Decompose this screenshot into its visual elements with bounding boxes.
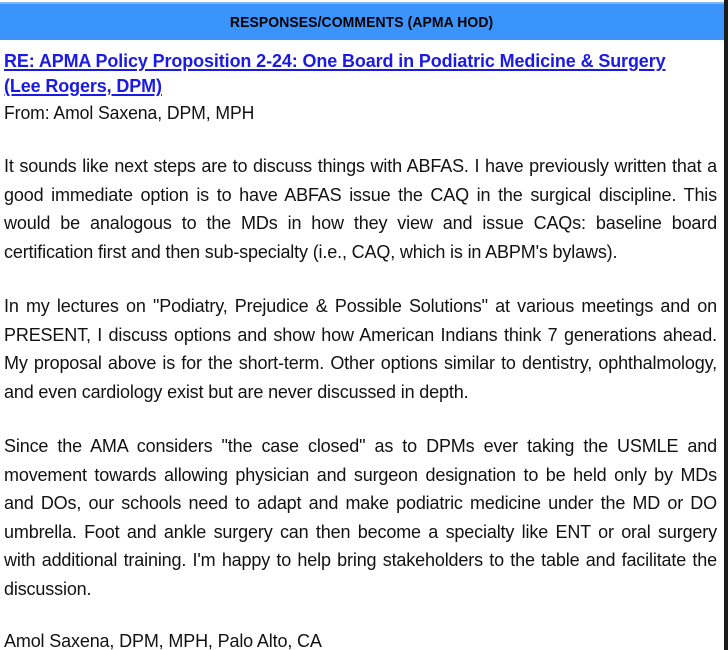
subject-link[interactable]: RE: APMA Policy Proposition 2-24: One Bo… [4, 48, 696, 98]
page-title: RESPONSES/COMMENTS (APMA HOD) [230, 14, 493, 31]
paragraph-spacer [4, 126, 717, 152]
paragraph-spacer [4, 406, 717, 432]
paragraph-spacer [4, 603, 717, 627]
message-content: RE: APMA Policy Proposition 2-24: One Bo… [0, 40, 722, 650]
message-signature: Amol Saxena, DPM, MPH, Palo Alto, CA [4, 627, 717, 650]
message-paragraph-3: Since the AMA considers "the case closed… [4, 432, 717, 603]
response-comment-page: RESPONSES/COMMENTS (APMA HOD) RE: APMA P… [0, 0, 728, 650]
message-paragraph-2: In my lectures on "Podiatry, Prejudice &… [4, 292, 717, 406]
paragraph-spacer [4, 266, 717, 292]
from-line: From: Amol Saxena, DPM, MPH [4, 100, 703, 126]
message-paragraph-1: It sounds like next steps are to discuss… [4, 152, 717, 266]
page-header-band: RESPONSES/COMMENTS (APMA HOD) [0, 2, 724, 40]
